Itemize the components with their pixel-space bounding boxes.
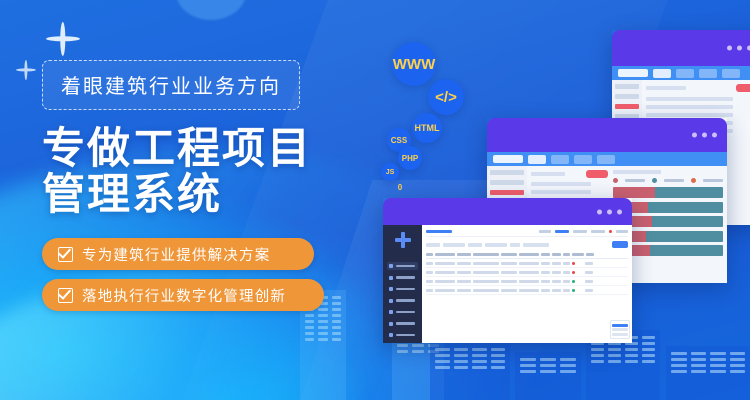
table-row bbox=[646, 105, 733, 109]
building-shape bbox=[515, 352, 581, 400]
table-cell bbox=[473, 262, 499, 265]
building-window bbox=[642, 354, 655, 357]
nav-item[interactable] bbox=[490, 170, 524, 175]
table-cell bbox=[426, 262, 433, 265]
tech-bubble-html: HTML bbox=[412, 113, 442, 143]
building-window bbox=[591, 354, 604, 357]
chart-bar bbox=[613, 187, 723, 198]
headline-line-2: 管理系统 bbox=[42, 172, 372, 218]
table-cell bbox=[457, 271, 471, 274]
sidebar-menu bbox=[387, 262, 418, 339]
building-window bbox=[730, 370, 746, 373]
status-badge bbox=[572, 280, 575, 283]
sparkle-icon bbox=[46, 22, 80, 56]
table-cell bbox=[585, 280, 593, 283]
chart-bar-segment-teal bbox=[655, 187, 723, 198]
table-cell bbox=[563, 262, 570, 265]
table-cell bbox=[552, 262, 561, 265]
sidebar-item-icon bbox=[389, 310, 393, 314]
tech-bubble-0: 0 bbox=[393, 180, 407, 194]
sidebar-item-label bbox=[396, 322, 415, 325]
building-window bbox=[472, 354, 487, 357]
table-cell bbox=[541, 262, 550, 265]
status-badge bbox=[572, 262, 575, 265]
tech-bubble-php: PHP bbox=[398, 146, 422, 170]
table-cell bbox=[457, 262, 471, 265]
table-cell bbox=[501, 271, 517, 274]
sidebar-item-label bbox=[396, 265, 415, 268]
sidebar-item-label bbox=[396, 334, 415, 337]
window-title-bar bbox=[612, 30, 750, 66]
table-column-header bbox=[519, 253, 539, 256]
nav-item[interactable] bbox=[615, 84, 639, 89]
building-windows bbox=[520, 358, 576, 373]
table-cell bbox=[563, 289, 570, 292]
sidebar-item-icon bbox=[389, 299, 393, 303]
app-topnav bbox=[487, 152, 727, 166]
table-cell bbox=[519, 262, 539, 265]
chart-bar-segment-red bbox=[613, 187, 655, 198]
window-dots bbox=[692, 133, 717, 138]
table-column-header bbox=[563, 253, 570, 256]
building-window bbox=[520, 364, 536, 367]
building-window bbox=[560, 358, 576, 361]
nav-tab[interactable] bbox=[699, 69, 717, 78]
table-row bbox=[646, 113, 733, 117]
window-dots bbox=[727, 46, 750, 51]
building-window bbox=[472, 348, 487, 351]
chart-bar-segment-teal bbox=[646, 231, 723, 242]
table-cell bbox=[563, 280, 570, 283]
building-window bbox=[642, 336, 655, 339]
table-cell bbox=[435, 262, 455, 265]
table-cell bbox=[519, 271, 539, 274]
table-cell bbox=[435, 289, 455, 292]
building-window bbox=[691, 358, 707, 361]
app-logo bbox=[493, 155, 523, 163]
action-dropdown[interactable] bbox=[610, 320, 630, 339]
dropdown-option[interactable] bbox=[612, 333, 628, 336]
mockup-front bbox=[383, 198, 632, 343]
sidebar-item[interactable] bbox=[387, 331, 418, 339]
table-cell bbox=[541, 280, 550, 283]
sidebar-item-icon bbox=[389, 322, 393, 326]
app-header bbox=[426, 228, 628, 237]
search-button[interactable] bbox=[612, 241, 628, 248]
table-cell bbox=[519, 289, 539, 292]
table-cell bbox=[552, 271, 561, 274]
feature-badge[interactable]: 专为建筑行业提供解决方案 bbox=[42, 238, 314, 270]
sidebar-item-label bbox=[396, 299, 415, 302]
page-title: 专做工程项目 管理系统 bbox=[42, 126, 372, 218]
building-window bbox=[671, 364, 687, 367]
building-window bbox=[710, 358, 726, 361]
window-body bbox=[383, 225, 632, 343]
building-window bbox=[560, 370, 576, 373]
table-cell bbox=[426, 280, 433, 283]
building-window bbox=[520, 358, 536, 361]
building-window bbox=[642, 360, 655, 363]
sidebar-item-icon bbox=[389, 287, 393, 291]
table-cell bbox=[457, 280, 471, 283]
filter-label bbox=[426, 243, 440, 247]
nav-item[interactable] bbox=[615, 94, 639, 99]
table-cell bbox=[552, 280, 561, 283]
sidebar-item-label bbox=[396, 311, 415, 314]
nav-item[interactable] bbox=[490, 180, 524, 185]
table-cell bbox=[563, 271, 570, 274]
building-window bbox=[472, 360, 487, 363]
app-logo bbox=[618, 69, 648, 77]
sidebar-item[interactable] bbox=[387, 285, 418, 293]
main-content bbox=[422, 225, 632, 343]
table-row bbox=[531, 182, 591, 186]
feature-badge-label: 专为建筑行业提供解决方案 bbox=[82, 244, 270, 265]
building-window bbox=[710, 370, 726, 373]
top-circle-decoration bbox=[176, 0, 246, 20]
table-cell bbox=[473, 289, 499, 292]
tech-bubble-www: WWW bbox=[392, 42, 436, 86]
table-column-header bbox=[541, 253, 550, 256]
headline-column: 着眼建筑行业业务方向 专做工程项目 管理系统 专为建筑行业提供解决方案落地执行行… bbox=[42, 60, 372, 320]
sidebar-item-icon bbox=[389, 333, 393, 337]
app-title bbox=[426, 230, 452, 233]
building-windows bbox=[671, 352, 745, 373]
building-window bbox=[540, 364, 556, 367]
building-window bbox=[540, 370, 556, 373]
building-window bbox=[625, 354, 638, 357]
table-cell bbox=[552, 289, 561, 292]
table-column-header bbox=[586, 253, 594, 256]
building-window bbox=[591, 360, 604, 363]
data-table bbox=[426, 251, 628, 295]
tagline-text: 着眼建筑行业业务方向 bbox=[61, 76, 281, 98]
building-window bbox=[591, 348, 604, 351]
tech-bubble-: </> bbox=[428, 79, 464, 115]
table-cell bbox=[585, 289, 593, 292]
table-row[interactable] bbox=[426, 286, 628, 295]
table-cell bbox=[457, 289, 471, 292]
feature-badge-list: 专为建筑行业提供解决方案落地执行行业数字化管理创新 bbox=[42, 238, 372, 311]
table-column-header bbox=[501, 253, 517, 256]
table-row[interactable] bbox=[426, 268, 628, 277]
building-window bbox=[608, 360, 621, 363]
building-window bbox=[730, 358, 746, 361]
building-window bbox=[472, 366, 487, 369]
sidebar-item-selected[interactable] bbox=[387, 262, 418, 270]
checkbox-checked-icon bbox=[58, 288, 73, 303]
building-window bbox=[691, 352, 707, 355]
building-window bbox=[608, 354, 621, 357]
chart-bar-segment-teal bbox=[652, 216, 724, 227]
feature-badge[interactable]: 落地执行行业数字化管理创新 bbox=[42, 279, 324, 311]
building-window bbox=[560, 364, 576, 367]
nav-item-selected[interactable] bbox=[490, 190, 524, 195]
field-label bbox=[531, 172, 565, 176]
table-cell bbox=[426, 289, 433, 292]
building-window bbox=[491, 366, 506, 369]
chart-title bbox=[613, 170, 661, 174]
sidebar-item-icon bbox=[389, 276, 393, 280]
nav-tab[interactable] bbox=[597, 155, 615, 164]
user-menu[interactable] bbox=[616, 230, 628, 233]
table-cell bbox=[501, 262, 517, 265]
table-cell bbox=[501, 280, 517, 283]
nav-tab[interactable] bbox=[574, 155, 592, 164]
tagline-box: 着眼建筑行业业务方向 bbox=[42, 60, 300, 110]
notification-badge[interactable] bbox=[609, 230, 612, 233]
table-cell bbox=[426, 271, 433, 274]
feature-badge-label: 落地执行行业数字化管理创新 bbox=[82, 285, 286, 306]
table-header-row bbox=[426, 251, 628, 259]
dropdown-option-selected[interactable] bbox=[612, 324, 628, 327]
sparkle-icon-small bbox=[16, 60, 36, 80]
app-topnav bbox=[612, 66, 750, 80]
building-window bbox=[642, 342, 655, 345]
building-window bbox=[691, 364, 707, 367]
building-window bbox=[730, 364, 746, 367]
table-row bbox=[531, 190, 591, 194]
table-row bbox=[646, 97, 733, 101]
checkbox-checked-icon bbox=[58, 247, 73, 262]
header-nav-item-active[interactable] bbox=[555, 230, 569, 233]
table-cell bbox=[435, 280, 455, 283]
building-window bbox=[710, 352, 726, 355]
window-title-bar bbox=[487, 118, 727, 152]
tech-bubble-js: JS bbox=[381, 163, 399, 181]
dropdown-option[interactable] bbox=[612, 328, 628, 331]
sidebar-item[interactable] bbox=[387, 308, 418, 316]
nav-tab[interactable] bbox=[676, 69, 694, 78]
app-logo-icon bbox=[395, 232, 411, 248]
building-window bbox=[671, 358, 687, 361]
building-window bbox=[540, 358, 556, 361]
table-cell bbox=[585, 262, 593, 265]
headline-line-1: 专做工程项目 bbox=[42, 126, 372, 172]
building-window bbox=[625, 360, 638, 363]
table-column-header bbox=[473, 253, 499, 256]
table-cell bbox=[473, 280, 499, 283]
table-cell bbox=[585, 271, 593, 274]
filter-label bbox=[510, 243, 520, 247]
chart-bar-segment-teal bbox=[648, 202, 723, 213]
nav-tab[interactable] bbox=[653, 69, 671, 78]
building-window bbox=[671, 352, 687, 355]
table-row[interactable] bbox=[426, 259, 628, 268]
nav-tab[interactable] bbox=[722, 69, 740, 78]
sidebar-item-label bbox=[396, 288, 415, 291]
table-cell bbox=[519, 280, 539, 283]
header-nav-item[interactable] bbox=[573, 230, 587, 233]
table-column-header bbox=[435, 253, 455, 256]
primary-action-button[interactable] bbox=[586, 170, 608, 178]
building-window bbox=[710, 364, 726, 367]
filter-select[interactable] bbox=[485, 243, 507, 247]
chart-legend bbox=[613, 178, 723, 183]
building-window bbox=[608, 348, 621, 351]
table-column-header bbox=[457, 253, 471, 256]
building-window bbox=[491, 354, 506, 357]
field-label bbox=[646, 86, 686, 90]
nav-tab[interactable] bbox=[551, 155, 569, 164]
window-dots bbox=[597, 209, 622, 214]
app-sidebar bbox=[383, 225, 422, 343]
promo-banner: WWW</>HTMLCSSPHPJS0 bbox=[0, 0, 750, 400]
window-title-bar bbox=[383, 198, 632, 225]
nav-tab[interactable] bbox=[528, 155, 546, 164]
sidebar-item[interactable] bbox=[387, 297, 418, 305]
building-shape bbox=[666, 346, 750, 400]
table-column-header bbox=[572, 253, 584, 256]
building-window bbox=[520, 370, 536, 373]
header-nav-item[interactable] bbox=[591, 230, 605, 233]
building-window bbox=[642, 348, 655, 351]
building-window bbox=[691, 370, 707, 373]
table-cell bbox=[435, 271, 455, 274]
filter-label bbox=[468, 243, 482, 247]
status-badge bbox=[572, 289, 575, 292]
primary-action-button[interactable] bbox=[736, 84, 750, 92]
building-window bbox=[671, 370, 687, 373]
sidebar-item-icon bbox=[389, 264, 393, 268]
building-window bbox=[625, 348, 638, 351]
nav-item-selected[interactable] bbox=[615, 104, 639, 109]
sidebar-item-label bbox=[396, 276, 415, 279]
filter-input[interactable] bbox=[523, 243, 549, 247]
table-column-header bbox=[552, 253, 561, 256]
table-cell bbox=[473, 271, 499, 274]
filter-bar bbox=[426, 241, 628, 248]
sidebar-item[interactable] bbox=[387, 320, 418, 328]
sidebar-item[interactable] bbox=[387, 274, 418, 282]
filter-select[interactable] bbox=[443, 243, 465, 247]
status-badge bbox=[572, 271, 575, 274]
table-row[interactable] bbox=[426, 277, 628, 286]
table-cell bbox=[541, 271, 550, 274]
table-column-header bbox=[426, 253, 433, 256]
table-cell bbox=[541, 289, 550, 292]
building-window bbox=[730, 352, 746, 355]
building-window bbox=[491, 348, 506, 351]
building-window bbox=[491, 360, 506, 363]
chart-bar-segment-teal bbox=[650, 245, 723, 256]
header-nav-item[interactable] bbox=[539, 230, 551, 233]
table-cell bbox=[501, 289, 517, 292]
